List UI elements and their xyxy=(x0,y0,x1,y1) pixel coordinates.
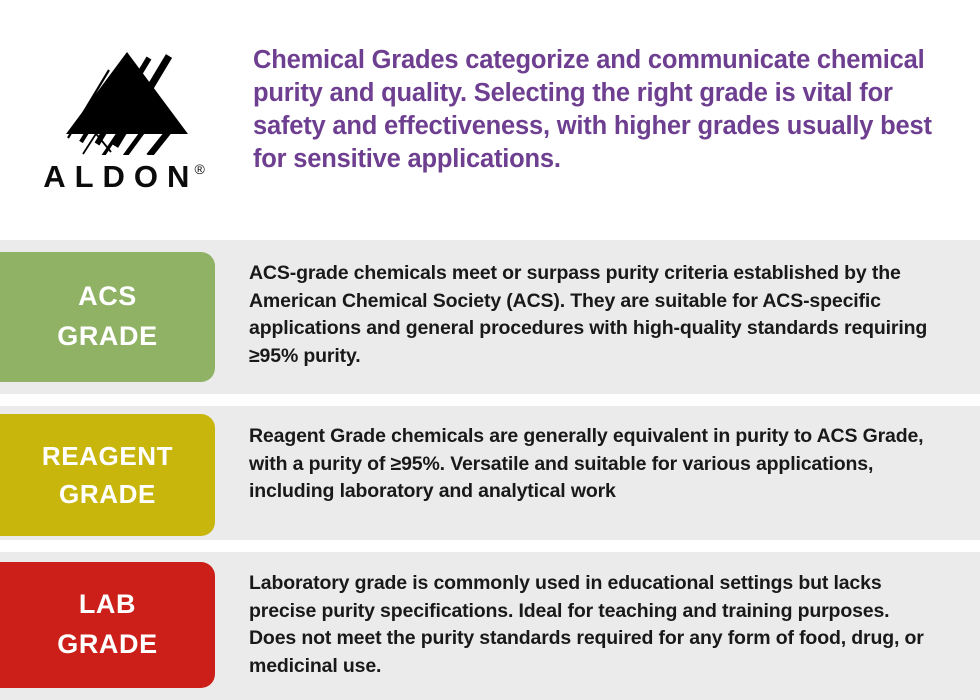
grade-badge-lab-line1: LAB xyxy=(79,585,136,625)
grade-badge-lab-line2: GRADE xyxy=(57,625,158,665)
brand-name: ALDON xyxy=(43,161,198,192)
grade-badge-acs-line2: GRADE xyxy=(57,317,158,357)
grade-row-reagent: REAGENT GRADE Reagent Grade chemicals ar… xyxy=(0,406,980,540)
grade-badge-acs-line1: ACS xyxy=(78,277,137,317)
infographic-page: ALDON ® Chemical Grades categorize and c… xyxy=(0,0,980,700)
header-intro-text: Chemical Grades categorize and communica… xyxy=(248,0,980,176)
grade-badge-reagent-line2: GRADE xyxy=(59,475,156,513)
grade-description-acs: ACS-grade chemicals meet or surpass puri… xyxy=(215,240,980,371)
grade-description-reagent: Reagent Grade chemicals are generally eq… xyxy=(215,406,980,506)
grade-description-lab: Laboratory grade is commonly used in edu… xyxy=(215,552,980,681)
grade-row-lab: LAB GRADE Laboratory grade is commonly u… xyxy=(0,552,980,700)
grade-row-acs: ACS GRADE ACS-grade chemicals meet or su… xyxy=(0,240,980,394)
brand-wordmark: ALDON ® xyxy=(43,161,205,192)
grade-badge-reagent-line1: REAGENT xyxy=(42,437,173,475)
registered-trademark-icon: ® xyxy=(194,162,204,176)
triangle-with-speed-lines-icon xyxy=(49,30,199,155)
header-section: ALDON ® Chemical Grades categorize and c… xyxy=(0,0,980,238)
grade-badge-reagent[interactable]: REAGENT GRADE xyxy=(0,414,215,536)
brand-logo: ALDON ® xyxy=(0,0,248,192)
grade-badge-lab[interactable]: LAB GRADE xyxy=(0,562,215,688)
grade-badge-acs[interactable]: ACS GRADE xyxy=(0,252,215,382)
